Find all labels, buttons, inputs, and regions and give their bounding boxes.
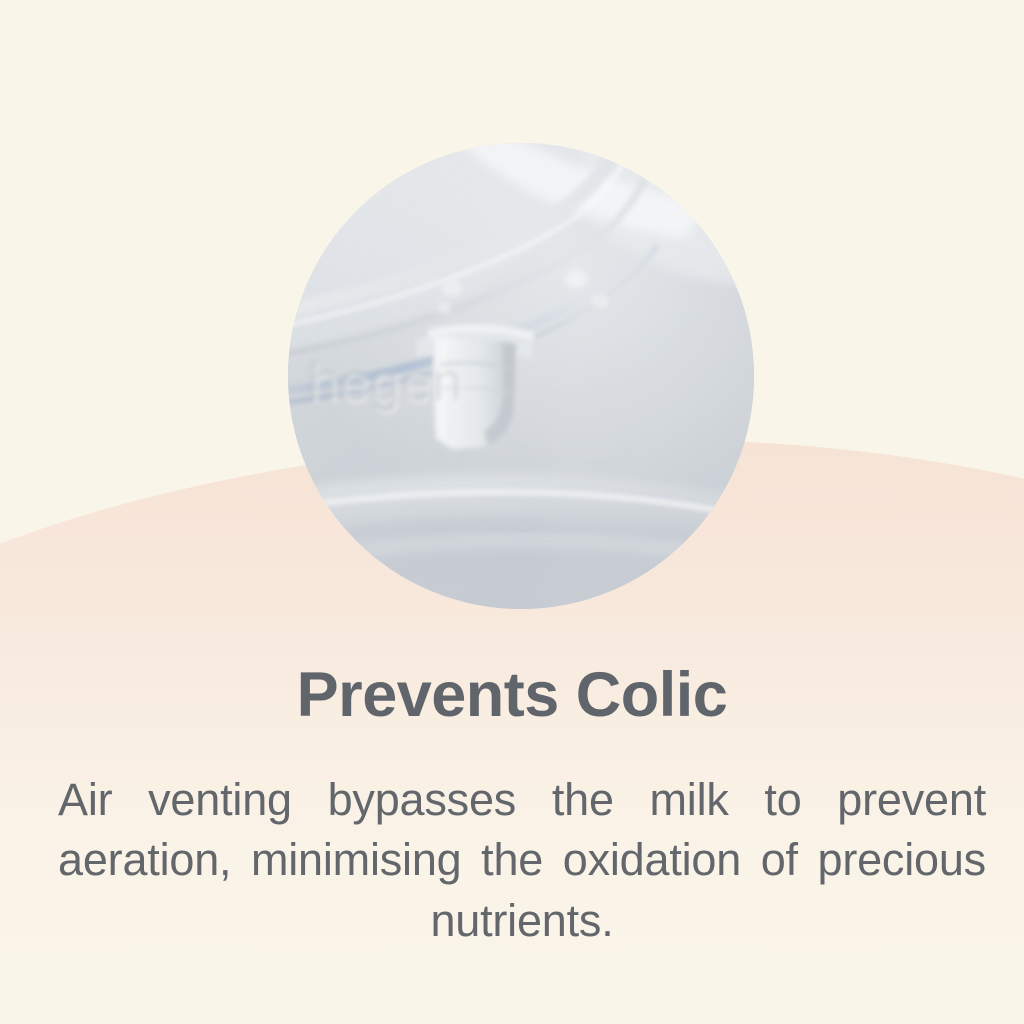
feature-card: hegen hegen Prevents Colic Air venting b… <box>0 0 1024 1024</box>
feature-description: Air venting bypasses the milk to prevent… <box>58 770 986 951</box>
teat-air-vent-illustration: hegen hegen <box>288 143 754 609</box>
page-title: Prevents Colic <box>0 663 1024 727</box>
product-photo: hegen hegen <box>288 143 754 609</box>
